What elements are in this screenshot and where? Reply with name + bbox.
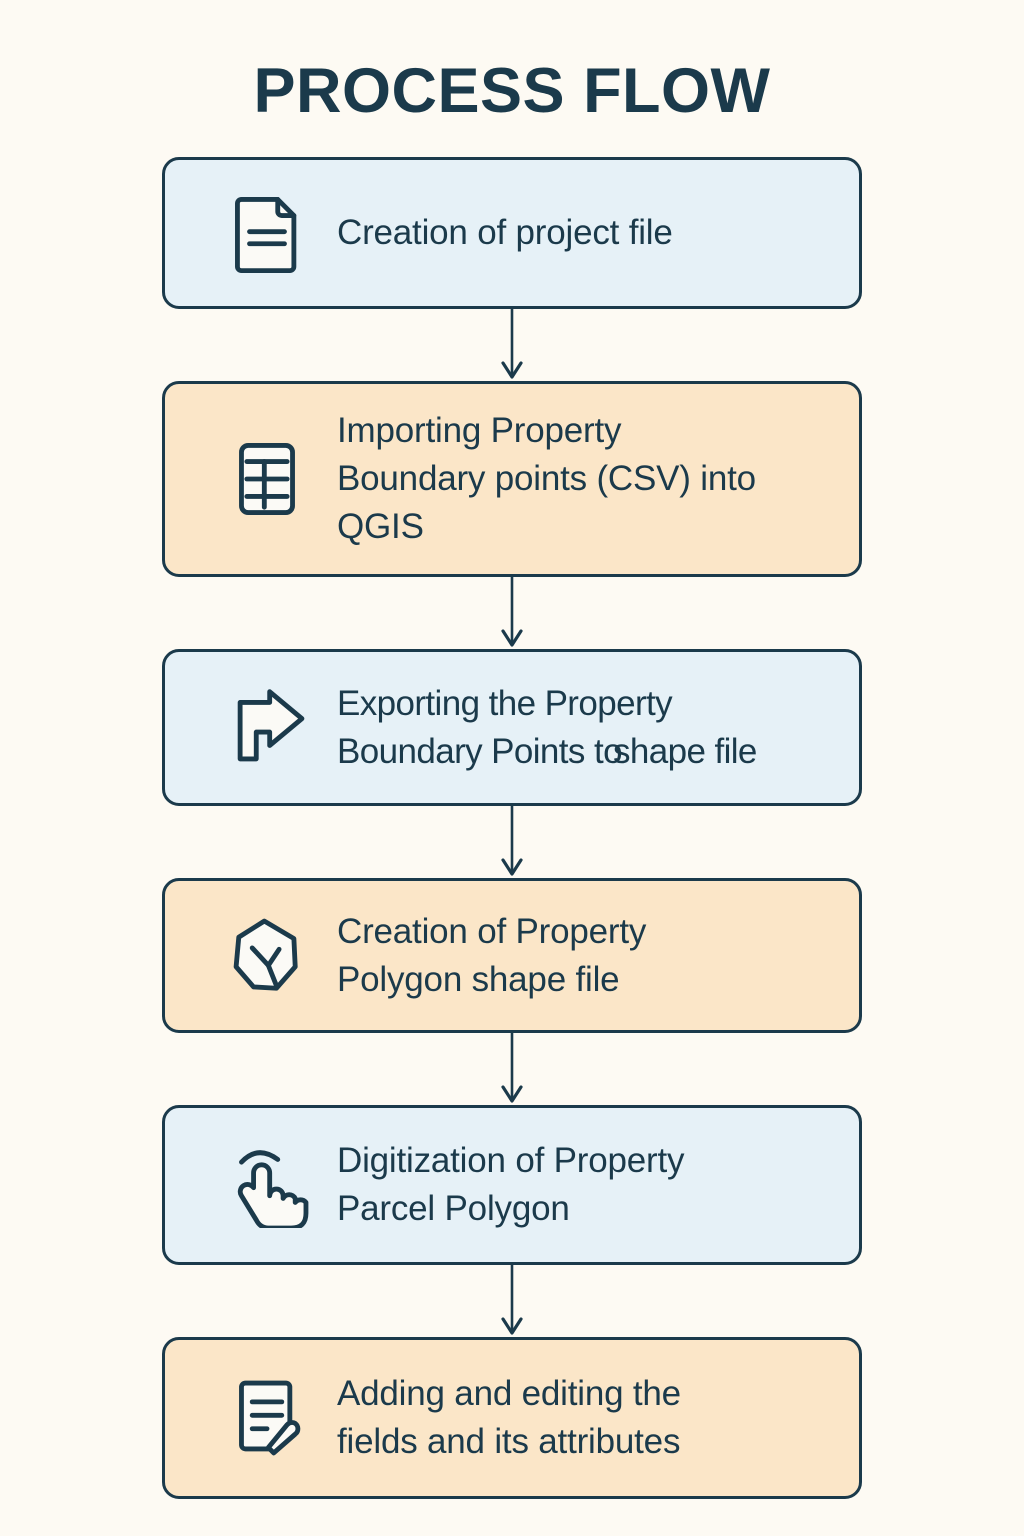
process-flow-diagram: PROCESS FLOW Creation of project file bbox=[0, 0, 1024, 1536]
page-title: PROCESS FLOW bbox=[0, 0, 1024, 124]
step-label: Importing Property Boundary points (CSV)… bbox=[337, 407, 845, 551]
arrow-down-icon bbox=[501, 806, 523, 878]
flow-step-5: Digitization of Property Parcel Polygon bbox=[162, 1105, 862, 1265]
flow-step-2: Importing Property Boundary points (CSV)… bbox=[162, 381, 862, 577]
step-label-line-1: Exporting the Property bbox=[337, 684, 672, 723]
flow-step-4: Creation of Property Polygon shape file bbox=[162, 878, 862, 1033]
flow-step-1: Creation of project file bbox=[162, 157, 862, 309]
step-label: Digitization of Property Parcel Polygon bbox=[337, 1137, 845, 1233]
arrow-down-icon bbox=[501, 309, 523, 381]
step-box-importing-property-boundary-points[interactable]: Importing Property Boundary points (CSV)… bbox=[162, 381, 862, 577]
arrow-down-icon bbox=[501, 1033, 523, 1105]
step-label: Exporting the PropertyBoundary Points to… bbox=[337, 680, 859, 776]
arrow-down-icon bbox=[501, 577, 523, 649]
arrow-down-icon bbox=[501, 1265, 523, 1337]
step-box-digitization-of-property-parcel[interactable]: Digitization of Property Parcel Polygon bbox=[162, 1105, 862, 1265]
step-box-exporting-property-boundary-points[interactable]: Exporting the PropertyBoundary Points to… bbox=[162, 649, 862, 806]
step-label-line-2-part-a: Boundary Points to bbox=[337, 732, 622, 771]
export-arrow-icon bbox=[221, 682, 313, 774]
step-label-line-2-part-b: shape file bbox=[613, 732, 757, 771]
connector-arrow-1 bbox=[162, 309, 862, 381]
tap-hand-icon bbox=[221, 1139, 313, 1231]
edit-document-icon bbox=[221, 1372, 313, 1464]
step-box-adding-editing-fields-attributes[interactable]: Adding and editing the fields and its at… bbox=[162, 1337, 862, 1499]
connector-arrow-4 bbox=[162, 1033, 862, 1105]
connector-arrow-2 bbox=[162, 577, 862, 649]
connector-arrow-5 bbox=[162, 1265, 862, 1337]
table-icon bbox=[221, 433, 313, 525]
polygon-icon bbox=[221, 910, 313, 1002]
flow-step-6: Adding and editing the fields and its at… bbox=[162, 1337, 862, 1499]
flow-step-list: Creation of project file bbox=[162, 124, 862, 1499]
step-label: Adding and editing the fields and its at… bbox=[337, 1370, 845, 1466]
flow-step-3: Exporting the PropertyBoundary Points to… bbox=[162, 649, 862, 806]
step-label-line-2: Boundary Points toshape file bbox=[337, 732, 757, 771]
step-box-creation-of-project-file[interactable]: Creation of project file bbox=[162, 157, 862, 309]
connector-arrow-3 bbox=[162, 806, 862, 878]
step-label: Creation of project file bbox=[337, 209, 845, 257]
document-icon bbox=[221, 187, 313, 279]
step-box-creation-of-property-polygon[interactable]: Creation of Property Polygon shape file bbox=[162, 878, 862, 1033]
step-label: Creation of Property Polygon shape file bbox=[337, 908, 845, 1004]
